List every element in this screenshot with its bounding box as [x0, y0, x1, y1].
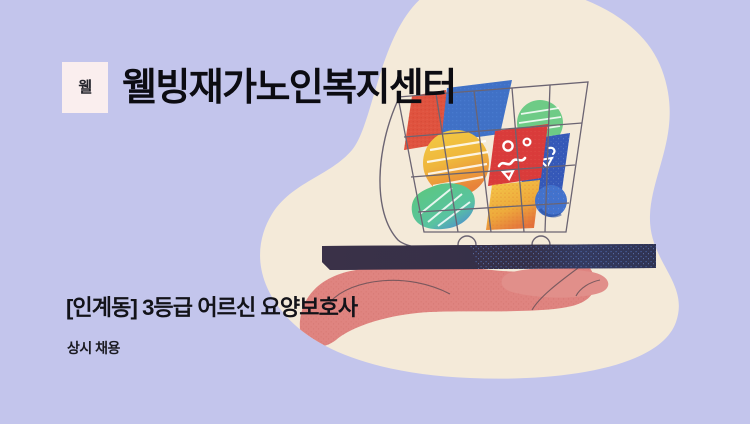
company-logo-badge-text: 웰: [78, 80, 91, 95]
text-layer: 웰 웰빙재가노인복지센터 [인계동] 3등급 어르신 요양보호사 상시 채용: [0, 0, 750, 424]
job-posting-card: 웰 웰빙재가노인복지센터 [인계동] 3등급 어르신 요양보호사 상시 채용: [0, 0, 750, 424]
company-logo-badge: 웰: [62, 62, 108, 113]
brand-row: 웰 웰빙재가노인복지센터: [62, 62, 456, 113]
job-title: [인계동] 3등급 어르신 요양보호사: [66, 295, 357, 321]
job-status-badge: 상시 채용: [67, 340, 120, 357]
company-name: 웰빙재가노인복지센터: [122, 69, 456, 107]
